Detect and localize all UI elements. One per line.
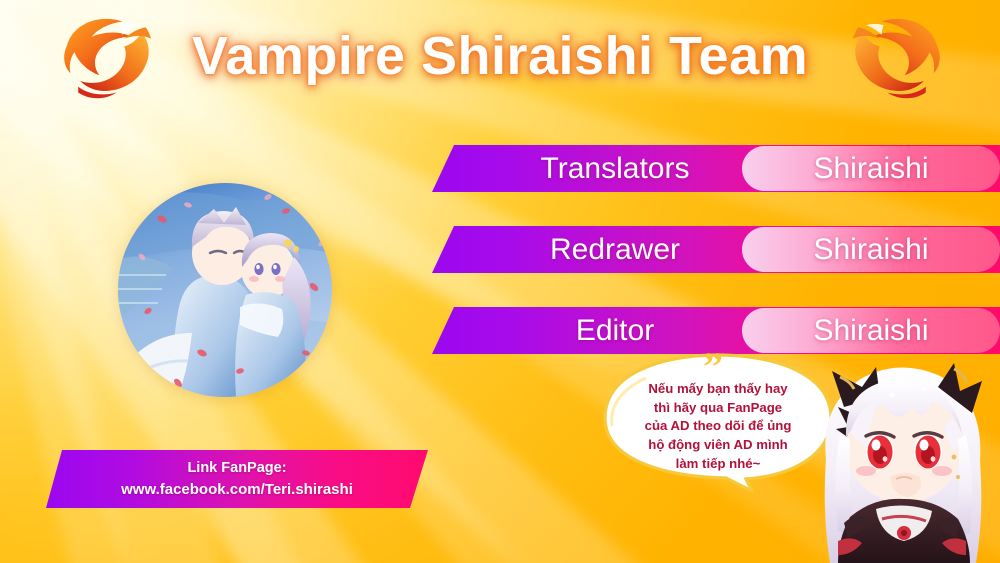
credit-row[interactable]: Redrawer Shiraishi <box>432 226 1000 273</box>
credit-row[interactable]: Editor Shiraishi <box>432 307 1000 354</box>
credit-name-pill: Shiraishi <box>742 308 1000 353</box>
fanpage-url: www.facebook.com/Teri.shirashi <box>121 479 353 501</box>
bubble-line: làm tiếp nhé~ <box>618 455 818 474</box>
credit-name-label: Shiraishi <box>813 314 928 348</box>
fanpage-link-banner[interactable]: Link FanPage: www.facebook.com/Teri.shir… <box>46 450 428 508</box>
credit-role-label: Redrawer <box>470 226 760 273</box>
credit-name-pill: Shiraishi <box>742 146 1000 191</box>
credit-role-label: Editor <box>470 307 760 354</box>
credit-name-label: Shiraishi <box>813 152 928 186</box>
chibi-eye-left <box>866 433 894 469</box>
credit-name-label: Shiraishi <box>813 233 928 267</box>
bubble-line: Nếu mấy bạn thấy hay <box>618 380 818 399</box>
chibi-eye-right <box>914 433 942 469</box>
speech-bubble: ” Nếu mấy bạn thấy hay thì hãy qua FanPa… <box>600 352 836 492</box>
credit-role-label: Translators <box>470 145 760 192</box>
bubble-line: của AD theo dõi để ủng <box>618 417 818 436</box>
speech-bubble-text: Nếu mấy bạn thấy hay thì hãy qua FanPage… <box>618 380 818 474</box>
bubble-line: hộ động viên AD mình <box>618 436 818 455</box>
bubble-line: thì hãy qua FanPage <box>618 399 818 418</box>
credit-name-pill: Shiraishi <box>742 227 1000 272</box>
chibi-character-illustration <box>804 351 1000 563</box>
credits-banner: Vampire Shiraishi Team <box>0 0 1000 563</box>
credit-row[interactable]: Translators Shiraishi <box>432 145 1000 192</box>
fanpage-label: Link FanPage: <box>187 458 286 479</box>
